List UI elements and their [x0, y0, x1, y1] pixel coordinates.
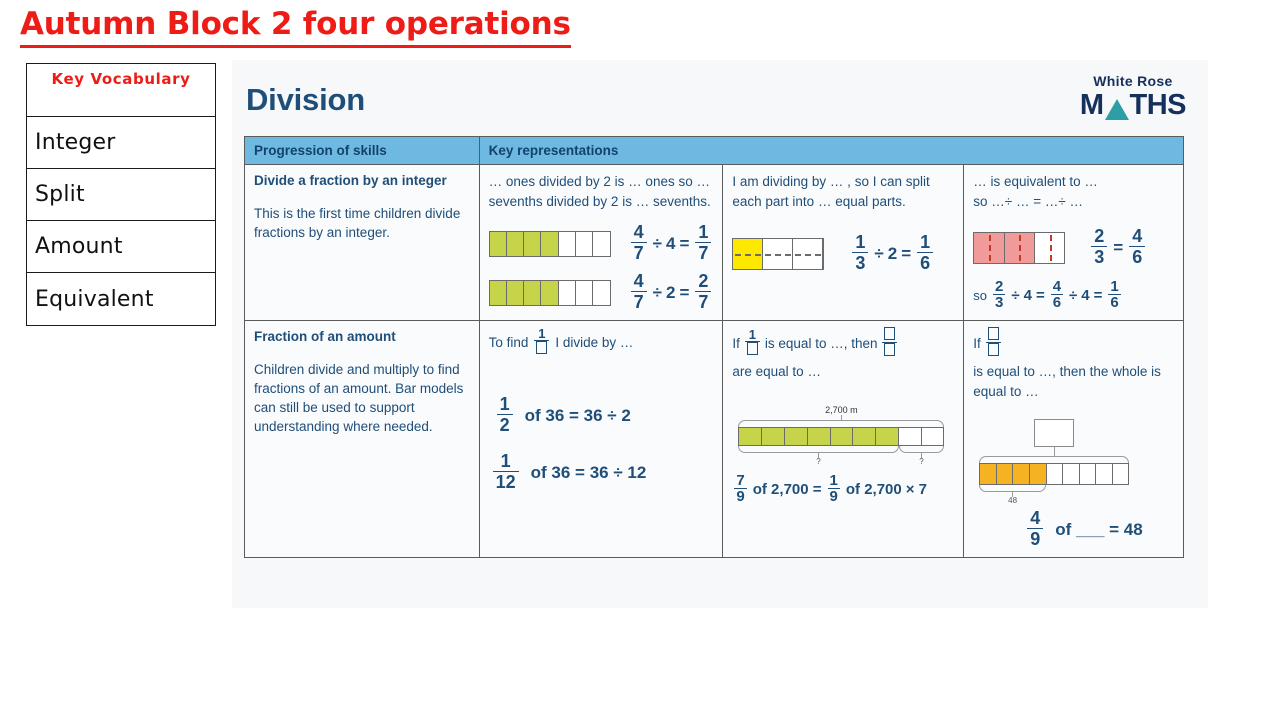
- fraction-4-7: 47: [631, 222, 647, 263]
- empty-box-icon: [988, 343, 999, 356]
- equation-text: of 36 = 36 ÷ 12: [531, 464, 647, 481]
- bar-model-4-ninths: [979, 463, 1129, 485]
- bar-bottom-label-2: ?: [899, 458, 945, 466]
- logo-letter-m: M: [1080, 91, 1104, 120]
- text-prefix: To find: [489, 333, 529, 353]
- cell-skill-fraction-of-amount: Fraction of an amount Children divide an…: [245, 321, 480, 558]
- bar-bottom-braces: 48: [979, 485, 1129, 505]
- unknown-whole-box: [1034, 419, 1074, 447]
- operator-divide: ÷: [653, 235, 662, 252]
- bar-top-label: 2,700 m: [738, 406, 944, 415]
- equation-text-3: × 7: [906, 482, 927, 497]
- box-placeholder: [986, 342, 1001, 358]
- bar-model-group-4: 23 = 46: [973, 227, 1174, 268]
- operator-divide: ÷: [1011, 288, 1019, 303]
- fraction-1-2: 12: [497, 394, 513, 435]
- equation-2-3-div-4-chain: so 23 ÷ 4 = 46 ÷ 4 = 16: [973, 280, 1174, 311]
- representation-text-line2: so …÷ … = …÷ …: [973, 192, 1174, 212]
- table-body: Divide a fraction by an integer This is …: [245, 165, 1184, 558]
- equation-text: of 36 = 36 ÷ 2: [525, 407, 631, 424]
- fraction-4-9: 49: [1027, 508, 1043, 549]
- representation-text: If 1 is equal to …, then are equal to …: [732, 328, 954, 382]
- bar-bottom-label: 48: [979, 497, 1046, 505]
- skill-body: This is the first time children divide f…: [254, 204, 470, 242]
- bar-bottom-label-1: ?: [738, 458, 898, 466]
- operator-divide: ÷: [1069, 288, 1077, 303]
- divisor-value: 4: [1081, 288, 1089, 303]
- bar-bottom-brace-shaded: [979, 485, 1046, 492]
- logo-wordmark-bottom: M THS: [1080, 91, 1186, 120]
- bar-bottom-brace-unshaded: [899, 446, 945, 453]
- bar-model-2700-group: 2,700 m: [738, 406, 944, 466]
- box-placeholder: [882, 342, 897, 358]
- bar-model-48-group: 48: [979, 419, 1129, 505]
- bar-top-brace: [738, 420, 944, 427]
- bar-bottom-braces: ? ?: [738, 446, 944, 466]
- text-prefix: If: [973, 334, 981, 354]
- text-suffix: are equal to …: [732, 362, 821, 382]
- divisor-value: 2: [666, 284, 675, 301]
- fraction-box-over-box: [882, 327, 897, 358]
- bar-model-2-thirds: [973, 232, 1065, 264]
- empty-box-icon: [988, 327, 999, 340]
- bar-model-1-third: [732, 238, 824, 270]
- fraction-7-9: 79: [734, 473, 746, 504]
- representation-text: To find 1 I divide by …: [489, 328, 714, 357]
- bar-model-group-1: 47 ÷ 4 = 17: [489, 223, 714, 264]
- fraction-1-7: 17: [695, 222, 711, 263]
- text-prefix: If: [732, 334, 740, 354]
- table-header-row: Progression of skills Key representation…: [245, 137, 1184, 165]
- fraction-2-3: 23: [993, 279, 1005, 310]
- equation-text-1: of 2,700 =: [753, 482, 822, 497]
- cell-representation-ones-sevenths: … ones divided by 2 is … ones so … seven…: [479, 165, 723, 321]
- fraction-1-6: 16: [917, 232, 933, 273]
- table-row: Divide a fraction by an integer This is …: [245, 165, 1184, 321]
- skill-title: Divide a fraction by an integer: [254, 172, 470, 190]
- text-suffix: is equal to …, then the whole is equal t…: [973, 362, 1174, 401]
- cell-representation-split-parts: I am dividing by … , so I can split each…: [723, 165, 964, 321]
- box-placeholder: [745, 341, 760, 357]
- operator-equals: =: [1094, 288, 1103, 303]
- operator-divide: ÷: [874, 245, 883, 262]
- equation-half-of-36: 12 of 36 = 36 ÷ 2: [495, 395, 714, 436]
- page-title-underline: [20, 45, 571, 48]
- equation-text-2: of 2,700: [846, 482, 902, 497]
- slide-heading: Division: [246, 82, 365, 118]
- white-rose-maths-logo: White Rose M THS: [1080, 74, 1186, 120]
- column-header-key-representations: Key representations: [479, 137, 1183, 165]
- fraction-1-over-box: 1: [534, 327, 549, 356]
- bar-model-7-ninths: [738, 427, 944, 446]
- cell-representation-to-find: To find 1 I divide by … 12 of 36 = 36 ÷ …: [479, 321, 723, 558]
- fraction-1-12: 112: [493, 451, 519, 492]
- divisor-value: 4: [666, 235, 675, 252]
- equation-one-twelfth-of-36: 112 of 36 = 36 ÷ 12: [491, 452, 714, 493]
- text-middle: is equal to …, then: [765, 334, 878, 354]
- operator-divide: ÷: [653, 284, 662, 301]
- table-row: Fraction of an amount Children divide an…: [245, 321, 1184, 558]
- equation-1-3-div-2: 13 ÷ 2 = 16: [850, 233, 935, 274]
- fraction-1-over-box: 1: [745, 328, 760, 357]
- fraction-4-7: 47: [631, 271, 647, 312]
- cell-representation-whole-48: If is equal to …, then the whole is equa…: [964, 321, 1184, 558]
- key-vocabulary-heading: Key Vocabulary: [27, 64, 215, 117]
- empty-box-icon: [536, 341, 547, 354]
- text-suffix: I divide by …: [555, 333, 633, 353]
- equation-7-9-of-2700: 79 of 2,700 = 19 of 2,700 × 7: [732, 474, 954, 505]
- skill-body: Children divide and multiply to find fra…: [254, 360, 470, 437]
- vocabulary-term-label: Amount: [35, 234, 123, 259]
- bar-model-group-3: 13 ÷ 2 = 16: [732, 233, 954, 274]
- equation-2-3-equals-4-6: 23 = 46: [1089, 227, 1147, 268]
- column-header-progression: Progression of skills: [245, 137, 480, 165]
- operator-equals: =: [679, 235, 689, 252]
- skill-title: Fraction of an amount: [254, 328, 470, 346]
- bar-model-4-sevenths-a: [489, 231, 611, 257]
- vocabulary-term-label: Equivalent: [35, 287, 154, 312]
- divisor-value: 2: [888, 245, 897, 262]
- equation-prefix-so: so: [973, 289, 987, 302]
- box-placeholder: [882, 327, 897, 342]
- bar-model-group-2: 47 ÷ 2 = 27: [489, 272, 714, 313]
- cell-representation-2700: If 1 is equal to …, then are equal to …: [723, 321, 964, 558]
- equation-4-7-div-2: 47 ÷ 2 = 27: [629, 272, 714, 313]
- page-title: Autumn Block 2 four operations: [20, 6, 571, 42]
- logo-letters-ths: THS: [1130, 91, 1187, 120]
- empty-box-icon: [884, 343, 895, 356]
- vocabulary-term-label: Integer: [35, 130, 116, 155]
- vocabulary-term-amount: Amount: [27, 221, 215, 273]
- bar-top-tick: [841, 415, 842, 420]
- fraction-4-6: 46: [1051, 279, 1063, 310]
- fraction-1-9: 19: [828, 473, 840, 504]
- slide-page: Autumn Block 2 four operations Key Vocab…: [0, 0, 1266, 706]
- key-vocabulary-box: Key Vocabulary Integer Split Amount Equi…: [26, 63, 216, 326]
- bar-bottom-brace-shaded: [738, 446, 898, 453]
- fraction-2-3: 23: [1091, 226, 1107, 267]
- representation-text: I am dividing by … , so I can split each…: [732, 172, 954, 211]
- division-slide-panel: Division White Rose M THS Progression of…: [232, 60, 1208, 608]
- fraction-4-6: 46: [1129, 226, 1145, 267]
- fraction-box-over-box: [986, 327, 1001, 358]
- vocabulary-term-integer: Integer: [27, 117, 215, 169]
- representation-text: If is equal to …, then the whole is equa…: [973, 328, 1174, 401]
- bar-top-brace: [979, 456, 1129, 463]
- fraction-2-7: 27: [695, 271, 711, 312]
- empty-box-icon: [884, 327, 895, 340]
- vocabulary-term-equivalent: Equivalent: [27, 273, 215, 325]
- representation-text: … ones divided by 2 is … ones so … seven…: [489, 172, 714, 211]
- key-vocabulary-heading-label: Key Vocabulary: [52, 70, 191, 88]
- table-head: Progression of skills Key representation…: [245, 137, 1184, 165]
- vocabulary-term-label: Split: [35, 182, 85, 207]
- fraction-1-6: 16: [1108, 279, 1120, 310]
- equation-text: of ___ = 48: [1055, 521, 1142, 538]
- operator-equals: =: [679, 284, 689, 301]
- equation-4-9-of-blank: 49 of ___ = 48: [1025, 509, 1174, 550]
- operator-equals: =: [1036, 288, 1045, 303]
- dashed-split-line: [735, 254, 821, 256]
- representation-text-line1: … is equivalent to …: [973, 172, 1174, 192]
- vocabulary-term-split: Split: [27, 169, 215, 221]
- box-placeholder: [986, 327, 1001, 342]
- logo-triangle-a-icon: [1105, 99, 1129, 120]
- empty-box-icon: [747, 342, 758, 355]
- divisor-value: 4: [1024, 288, 1032, 303]
- bar-top-tick: [1054, 447, 1055, 456]
- logo-wordmark-top: White Rose: [1080, 74, 1186, 88]
- bar-model-4-sevenths-b: [489, 280, 611, 306]
- operator-equals: =: [901, 245, 911, 262]
- fraction-1-3: 13: [852, 232, 868, 273]
- cell-skill-divide-fraction: Divide a fraction by an integer This is …: [245, 165, 480, 321]
- progression-table: Progression of skills Key representation…: [244, 136, 1184, 558]
- cell-representation-equivalent: … is equivalent to … so …÷ … = …÷ … 23 =: [964, 165, 1184, 321]
- equation-4-7-div-4: 47 ÷ 4 = 17: [629, 223, 714, 264]
- operator-equals: =: [1113, 239, 1123, 256]
- box-placeholder: [534, 340, 549, 356]
